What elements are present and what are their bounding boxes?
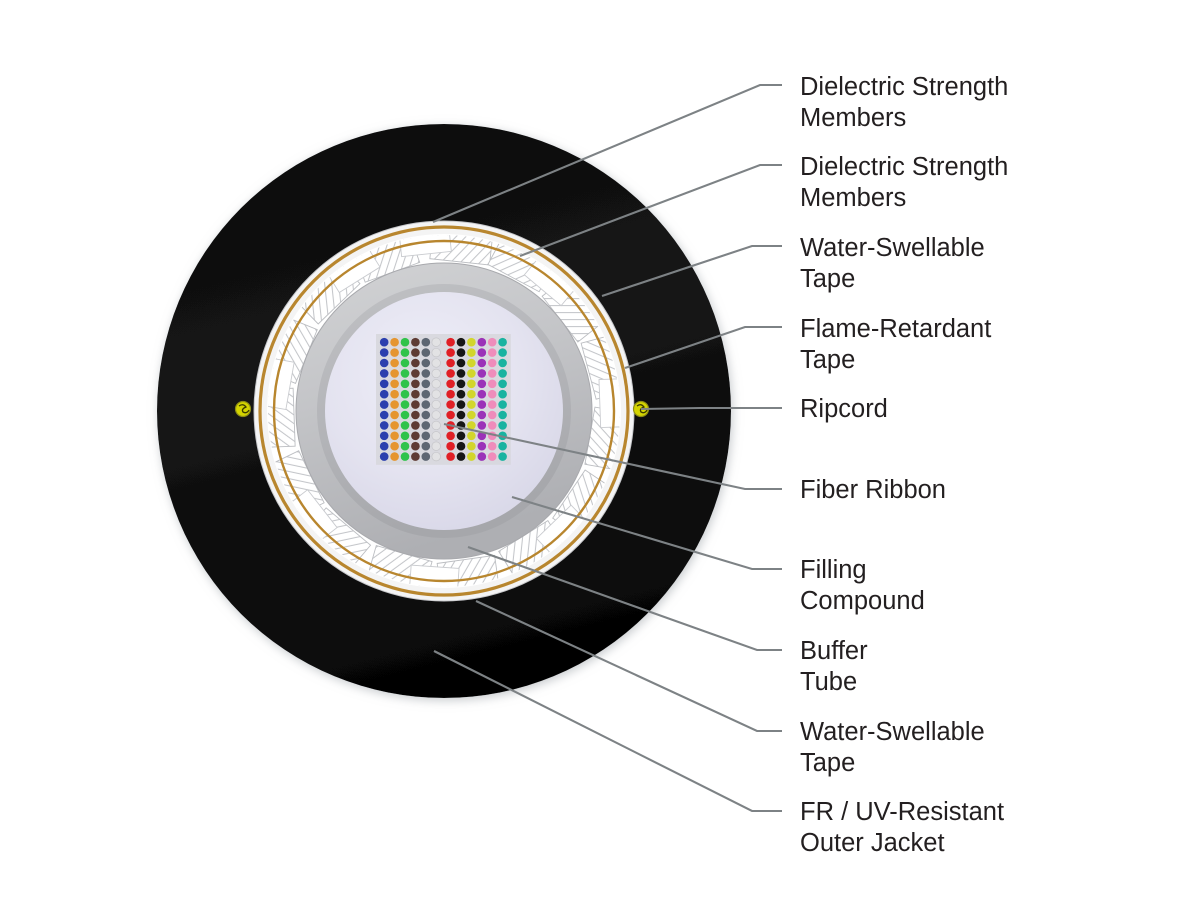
fiber-black xyxy=(457,442,466,451)
fiber-rose xyxy=(488,348,497,357)
fiber-rose xyxy=(488,452,497,461)
fiber-green xyxy=(401,369,410,378)
fiber-red xyxy=(446,359,455,368)
fiber-yellow xyxy=(467,432,476,441)
fiber-slate xyxy=(422,369,431,378)
fiber-aqua xyxy=(498,421,507,430)
fiber-yellow xyxy=(467,400,476,409)
fiber-red xyxy=(446,338,455,347)
fiber-black xyxy=(457,380,466,389)
fiber-red xyxy=(446,400,455,409)
fiber-slate xyxy=(422,400,431,409)
callout-labels: Dielectric StrengthMembersDielectric Str… xyxy=(800,73,1008,857)
fiber-brown xyxy=(411,390,420,399)
fiber-slate xyxy=(422,452,431,461)
fiber-rose xyxy=(488,390,497,399)
fiber-slate xyxy=(422,411,431,420)
fiber-rose xyxy=(488,380,497,389)
fiber-aqua xyxy=(498,400,507,409)
fiber-brown xyxy=(411,359,420,368)
fiber-slate xyxy=(422,359,431,368)
callout-label-dielectric-strength-members-2: Dielectric StrengthMembers xyxy=(800,153,1008,212)
fiber-black xyxy=(457,348,466,357)
fiber-brown xyxy=(411,348,420,357)
fiber-orange xyxy=(390,452,399,461)
fiber-orange xyxy=(390,421,399,430)
fiber-orange xyxy=(390,400,399,409)
fiber-blue xyxy=(380,442,389,451)
fiber-blue xyxy=(380,348,389,357)
fiber-red xyxy=(446,432,455,441)
fiber-slate xyxy=(422,380,431,389)
fiber-green xyxy=(401,442,410,451)
fiber-blue xyxy=(380,369,389,378)
diagram-stage: Dielectric StrengthMembersDielectric Str… xyxy=(0,0,1200,900)
fiber-green xyxy=(401,390,410,399)
fiber-white xyxy=(432,400,441,409)
fiber-blue xyxy=(380,338,389,347)
fiber-brown xyxy=(411,400,420,409)
fiber-white xyxy=(432,442,441,451)
fiber-slate xyxy=(422,338,431,347)
fiber-brown xyxy=(411,369,420,378)
fiber-violet xyxy=(478,338,487,347)
fiber-white xyxy=(432,390,441,399)
fiber-brown xyxy=(411,380,420,389)
fiber-rose xyxy=(488,400,497,409)
callout-label-filling-compound: FillingCompound xyxy=(800,556,925,615)
fiber-red xyxy=(446,411,455,420)
callout-label-water-swellable-tape-upper: Water-SwellableTape xyxy=(800,234,985,293)
fiber-aqua xyxy=(498,369,507,378)
fiber-red xyxy=(446,380,455,389)
fiber-red xyxy=(446,348,455,357)
fiber-blue xyxy=(380,452,389,461)
fiber-blue xyxy=(380,411,389,420)
fiber-yellow xyxy=(467,390,476,399)
fiber-black xyxy=(457,359,466,368)
fiber-slate xyxy=(422,421,431,430)
fiber-rose xyxy=(488,369,497,378)
fiber-slate xyxy=(422,348,431,357)
fiber-red xyxy=(446,442,455,451)
fiber-yellow xyxy=(467,369,476,378)
fiber-green xyxy=(401,348,410,357)
fiber-brown xyxy=(411,442,420,451)
fiber-black xyxy=(457,432,466,441)
fiber-orange xyxy=(390,432,399,441)
ripcord-left xyxy=(236,402,251,417)
fiber-violet xyxy=(478,359,487,368)
fiber-violet xyxy=(478,390,487,399)
fiber-blue xyxy=(380,400,389,409)
callout-label-ripcord: Ripcord xyxy=(800,395,888,423)
fiber-violet xyxy=(478,348,487,357)
fiber-violet xyxy=(478,442,487,451)
leader-ripcord xyxy=(641,408,782,409)
fiber-rose xyxy=(488,338,497,347)
fiber-rose xyxy=(488,359,497,368)
fiber-violet xyxy=(478,411,487,420)
callout-label-buffer-tube: BufferTube xyxy=(800,637,868,696)
fiber-aqua xyxy=(498,359,507,368)
fiber-brown xyxy=(411,411,420,420)
fiber-brown xyxy=(411,338,420,347)
fiber-white xyxy=(432,338,441,347)
fiber-green xyxy=(401,411,410,420)
fiber-violet xyxy=(478,369,487,378)
fiber-aqua xyxy=(498,390,507,399)
fiber-aqua xyxy=(498,452,507,461)
fiber-black xyxy=(457,369,466,378)
fiber-aqua xyxy=(498,411,507,420)
fiber-orange xyxy=(390,411,399,420)
fiber-brown xyxy=(411,452,420,461)
fiber-aqua xyxy=(498,442,507,451)
fiber-blue xyxy=(380,359,389,368)
fiber-rose xyxy=(488,411,497,420)
fiber-blue xyxy=(380,432,389,441)
fiber-orange xyxy=(390,442,399,451)
callout-label-fiber-ribbon: Fiber Ribbon xyxy=(800,476,946,504)
fiber-green xyxy=(401,338,410,347)
fiber-blue xyxy=(380,380,389,389)
fiber-red xyxy=(446,369,455,378)
fiber-green xyxy=(401,400,410,409)
fiber-red xyxy=(446,452,455,461)
fiber-yellow xyxy=(467,411,476,420)
fiber-brown xyxy=(411,421,420,430)
fiber-yellow xyxy=(467,442,476,451)
fiber-white xyxy=(432,380,441,389)
callout-label-flame-retardant-tape: Flame-RetardantTape xyxy=(800,315,991,374)
fiber-violet xyxy=(478,452,487,461)
fiber-black xyxy=(457,338,466,347)
fiber-slate xyxy=(422,442,431,451)
fiber-violet xyxy=(478,380,487,389)
fiber-white xyxy=(432,348,441,357)
fiber-green xyxy=(401,421,410,430)
fiber-violet xyxy=(478,400,487,409)
fiber-white xyxy=(432,421,441,430)
fiber-orange xyxy=(390,390,399,399)
fiber-black xyxy=(457,400,466,409)
fiber-black xyxy=(457,452,466,461)
fiber-orange xyxy=(390,369,399,378)
fiber-orange xyxy=(390,348,399,357)
fiber-black xyxy=(457,411,466,420)
fiber-red xyxy=(446,390,455,399)
fiber-blue xyxy=(380,421,389,430)
fiber-green xyxy=(401,432,410,441)
callout-label-fr-uv-resistant-outer-jacket: FR / UV-ResistantOuter Jacket xyxy=(800,798,1004,857)
callout-label-dielectric-strength-members-1: Dielectric StrengthMembers xyxy=(800,73,1008,132)
fiber-white xyxy=(432,432,441,441)
fiber-green xyxy=(401,359,410,368)
fiber-white xyxy=(432,369,441,378)
fiber-aqua xyxy=(498,338,507,347)
fiber-brown xyxy=(411,432,420,441)
fiber-white xyxy=(432,359,441,368)
cable-cross-section-diagram: Dielectric StrengthMembersDielectric Str… xyxy=(0,0,1200,900)
fiber-slate xyxy=(422,432,431,441)
fiber-white xyxy=(432,452,441,461)
fiber-aqua xyxy=(498,348,507,357)
fiber-ribbon-matrix xyxy=(376,334,511,465)
fiber-white xyxy=(432,411,441,420)
fiber-violet xyxy=(478,421,487,430)
fiber-yellow xyxy=(467,348,476,357)
fiber-black xyxy=(457,390,466,399)
callout-label-water-swellable-tape-lower: Water-SwellableTape xyxy=(800,718,985,777)
fiber-orange xyxy=(390,359,399,368)
fiber-yellow xyxy=(467,380,476,389)
fiber-rose xyxy=(488,421,497,430)
fiber-yellow xyxy=(467,359,476,368)
fiber-aqua xyxy=(498,380,507,389)
fiber-slate xyxy=(422,390,431,399)
fiber-yellow xyxy=(467,452,476,461)
fiber-rose xyxy=(488,442,497,451)
fiber-orange xyxy=(390,338,399,347)
fiber-orange xyxy=(390,380,399,389)
fiber-blue xyxy=(380,390,389,399)
fiber-green xyxy=(401,380,410,389)
fiber-green xyxy=(401,452,410,461)
fiber-yellow xyxy=(467,338,476,347)
